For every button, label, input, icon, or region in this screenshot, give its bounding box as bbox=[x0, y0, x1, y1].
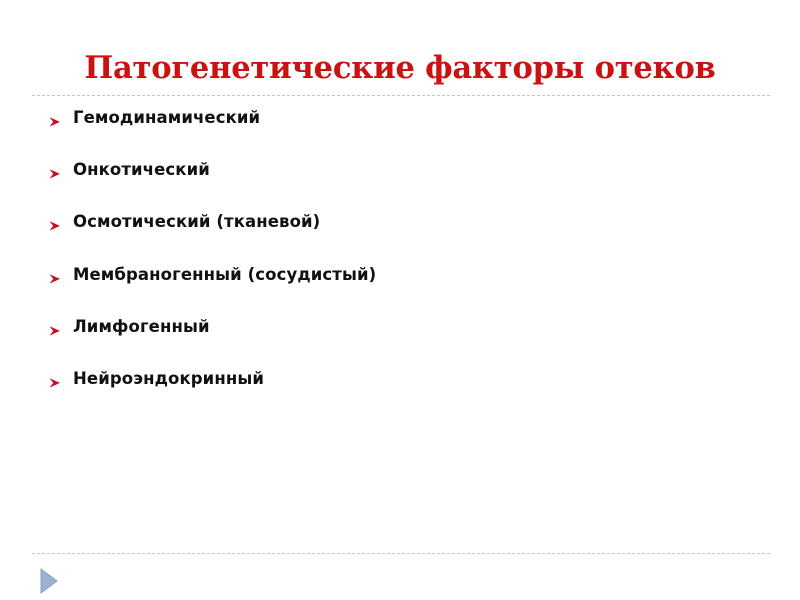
list-item-label: Осмотический (тканевой) bbox=[73, 210, 320, 234]
list-item: Нейроэндокринный bbox=[46, 367, 746, 419]
arrowhead-right-icon bbox=[47, 218, 63, 234]
list-item-label: Лимфогенный bbox=[73, 315, 210, 339]
factors-list: Гемодинамический Онкотический Осмотическ… bbox=[46, 106, 746, 419]
list-item: Лимфогенный bbox=[46, 315, 746, 367]
next-slide-button[interactable] bbox=[38, 567, 60, 595]
list-item-label: Мембраногенный (сосудистый) bbox=[73, 263, 376, 287]
arrowhead-right-icon bbox=[47, 375, 63, 391]
footer-divider bbox=[32, 553, 770, 554]
title-divider bbox=[32, 95, 770, 96]
list-item: Онкотический bbox=[46, 158, 746, 210]
arrowhead-right-icon bbox=[47, 271, 63, 287]
slide-title-block: Патогенетические факторы отеков bbox=[32, 46, 768, 92]
page-title: Патогенетические факторы отеков bbox=[32, 46, 768, 90]
slide-canvas: Патогенетические факторы отеков Гемодина… bbox=[0, 0, 800, 600]
list-item: Мембраногенный (сосудистый) bbox=[46, 263, 746, 315]
play-triangle-right-icon bbox=[38, 567, 60, 595]
arrowhead-right-icon bbox=[47, 114, 63, 130]
list-item-label: Нейроэндокринный bbox=[73, 367, 264, 391]
arrowhead-right-icon bbox=[47, 323, 63, 339]
list-item: Осмотический (тканевой) bbox=[46, 210, 746, 262]
list-item-label: Гемодинамический bbox=[73, 106, 260, 130]
list-item-label: Онкотический bbox=[73, 158, 210, 182]
list-item: Гемодинамический bbox=[46, 106, 746, 158]
arrowhead-right-icon bbox=[47, 166, 63, 182]
